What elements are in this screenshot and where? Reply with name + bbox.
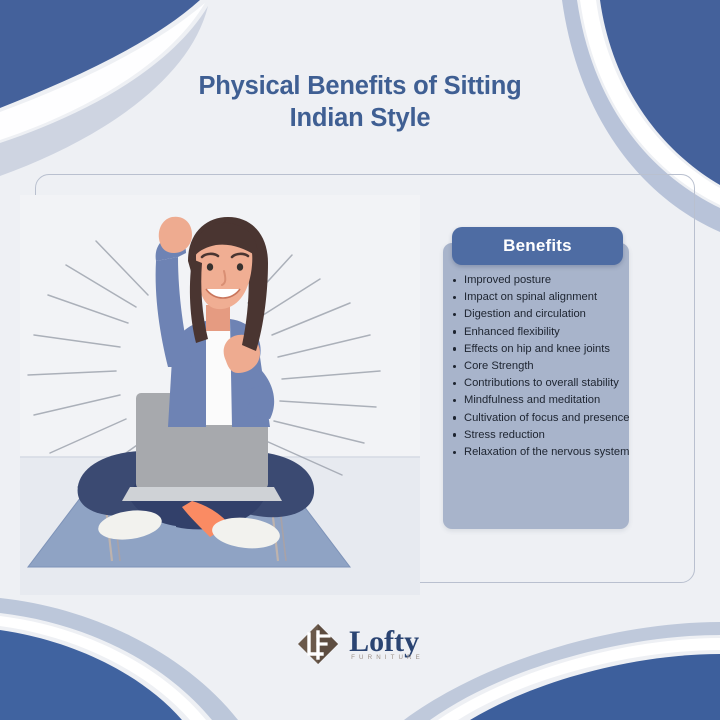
benefits-header-label: Benefits [503,236,572,256]
list-item: Cultivation of focus and presence [449,410,631,427]
list-item: Effects on hip and knee joints [449,341,631,358]
list-item: Enhanced flexibility [449,324,631,341]
list-item: Impact on spinal alignment [449,289,631,306]
brand-logo: Lofty FURNITURE [0,622,720,666]
list-item: Relaxation of the nervous system [449,444,631,461]
logo-wordmark: Lofty [349,627,419,656]
page-title-line-2: Indian Style [0,102,720,134]
list-item: Digestion and circulation [449,306,631,323]
list-item: Stress reduction [449,427,631,444]
logo-text-block: Lofty FURNITURE [349,627,424,661]
list-item: Improved posture [449,272,631,289]
poster-canvas: Physical Benefits of Sitting Indian Styl… [0,0,720,720]
logo-subtitle: FURNITURE [351,654,424,661]
list-item: Contributions to overall stability [449,375,631,392]
woman-figure [156,217,275,427]
benefits-header: Benefits [452,227,623,265]
list-item: Core Strength [449,358,631,375]
illustration-woman-sitting [20,195,420,595]
benefits-list: Improved posture Impact on spinal alignm… [449,272,631,461]
page-title: Physical Benefits of Sitting Indian Styl… [0,70,720,134]
logo-diamond-icon [296,622,340,666]
list-item: Mindfulness and meditation [449,392,631,409]
page-title-line-1: Physical Benefits of Sitting [198,72,521,100]
